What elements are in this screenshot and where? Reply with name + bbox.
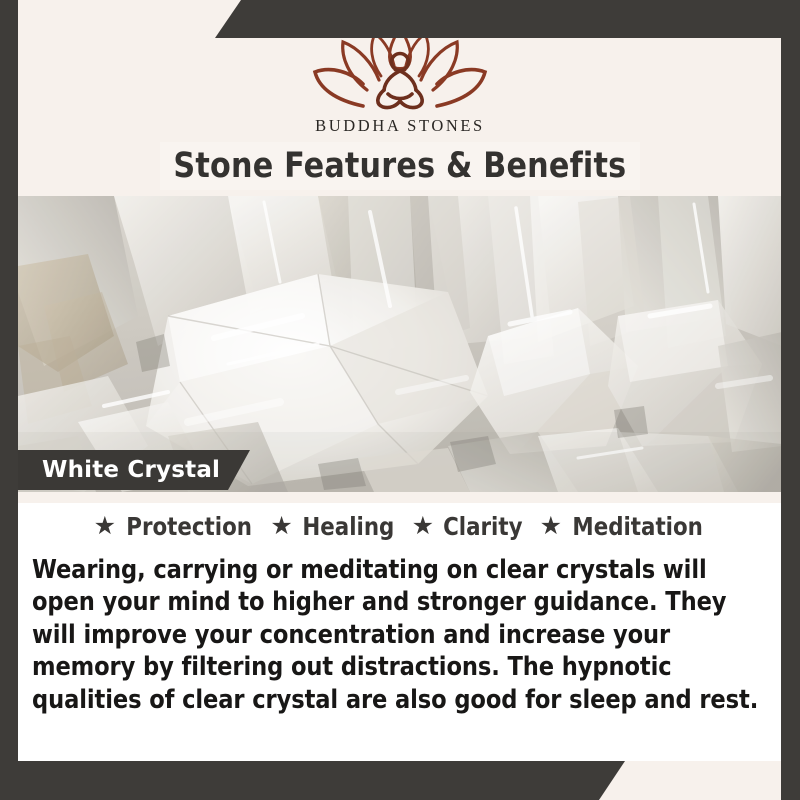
photo-caption-banner: White Crystal (18, 450, 250, 490)
infographic-card: BUDDHA STONES Stone Features & Benefits (0, 0, 800, 800)
crystal-photo (18, 196, 782, 492)
description-text: Wearing, carrying or meditating on clear… (32, 554, 759, 716)
photo-caption-text: White Crystal (18, 457, 220, 483)
frame-top-bar (215, 0, 800, 38)
frame-left-bar (0, 0, 18, 800)
frame-top-left-fill (0, 0, 242, 38)
frame-bottom-right-fill (600, 761, 800, 800)
title-banner: Stone Features & Benefits (160, 142, 640, 190)
benefit-label: Healing (302, 512, 394, 541)
star-icon: ★ (270, 514, 292, 539)
frame-right-bar (781, 0, 800, 800)
brand-name: BUDDHA STONES (0, 116, 800, 136)
benefits-list: ★ Protection ★ Healing ★ Clarity ★ Medit… (18, 512, 782, 541)
benefit-item-clarity: ★ Clarity (407, 512, 530, 541)
page-title: Stone Features & Benefits (174, 146, 627, 186)
benefit-label: Protection (126, 512, 252, 541)
frame-bottom-bar (0, 761, 625, 800)
content-section: ★ Protection ★ Healing ★ Clarity ★ Medit… (18, 492, 782, 761)
star-icon: ★ (94, 514, 116, 539)
star-icon: ★ (412, 514, 434, 539)
content-top-strip (18, 492, 782, 503)
benefit-label: Meditation (572, 512, 702, 541)
benefit-item-meditation: ★ Meditation (535, 512, 712, 541)
benefit-item-healing: ★ Healing (265, 512, 401, 541)
crystal-photo-image (18, 196, 782, 492)
benefit-item-protection: ★ Protection (89, 512, 261, 541)
benefit-label: Clarity (443, 512, 522, 541)
star-icon: ★ (540, 514, 562, 539)
